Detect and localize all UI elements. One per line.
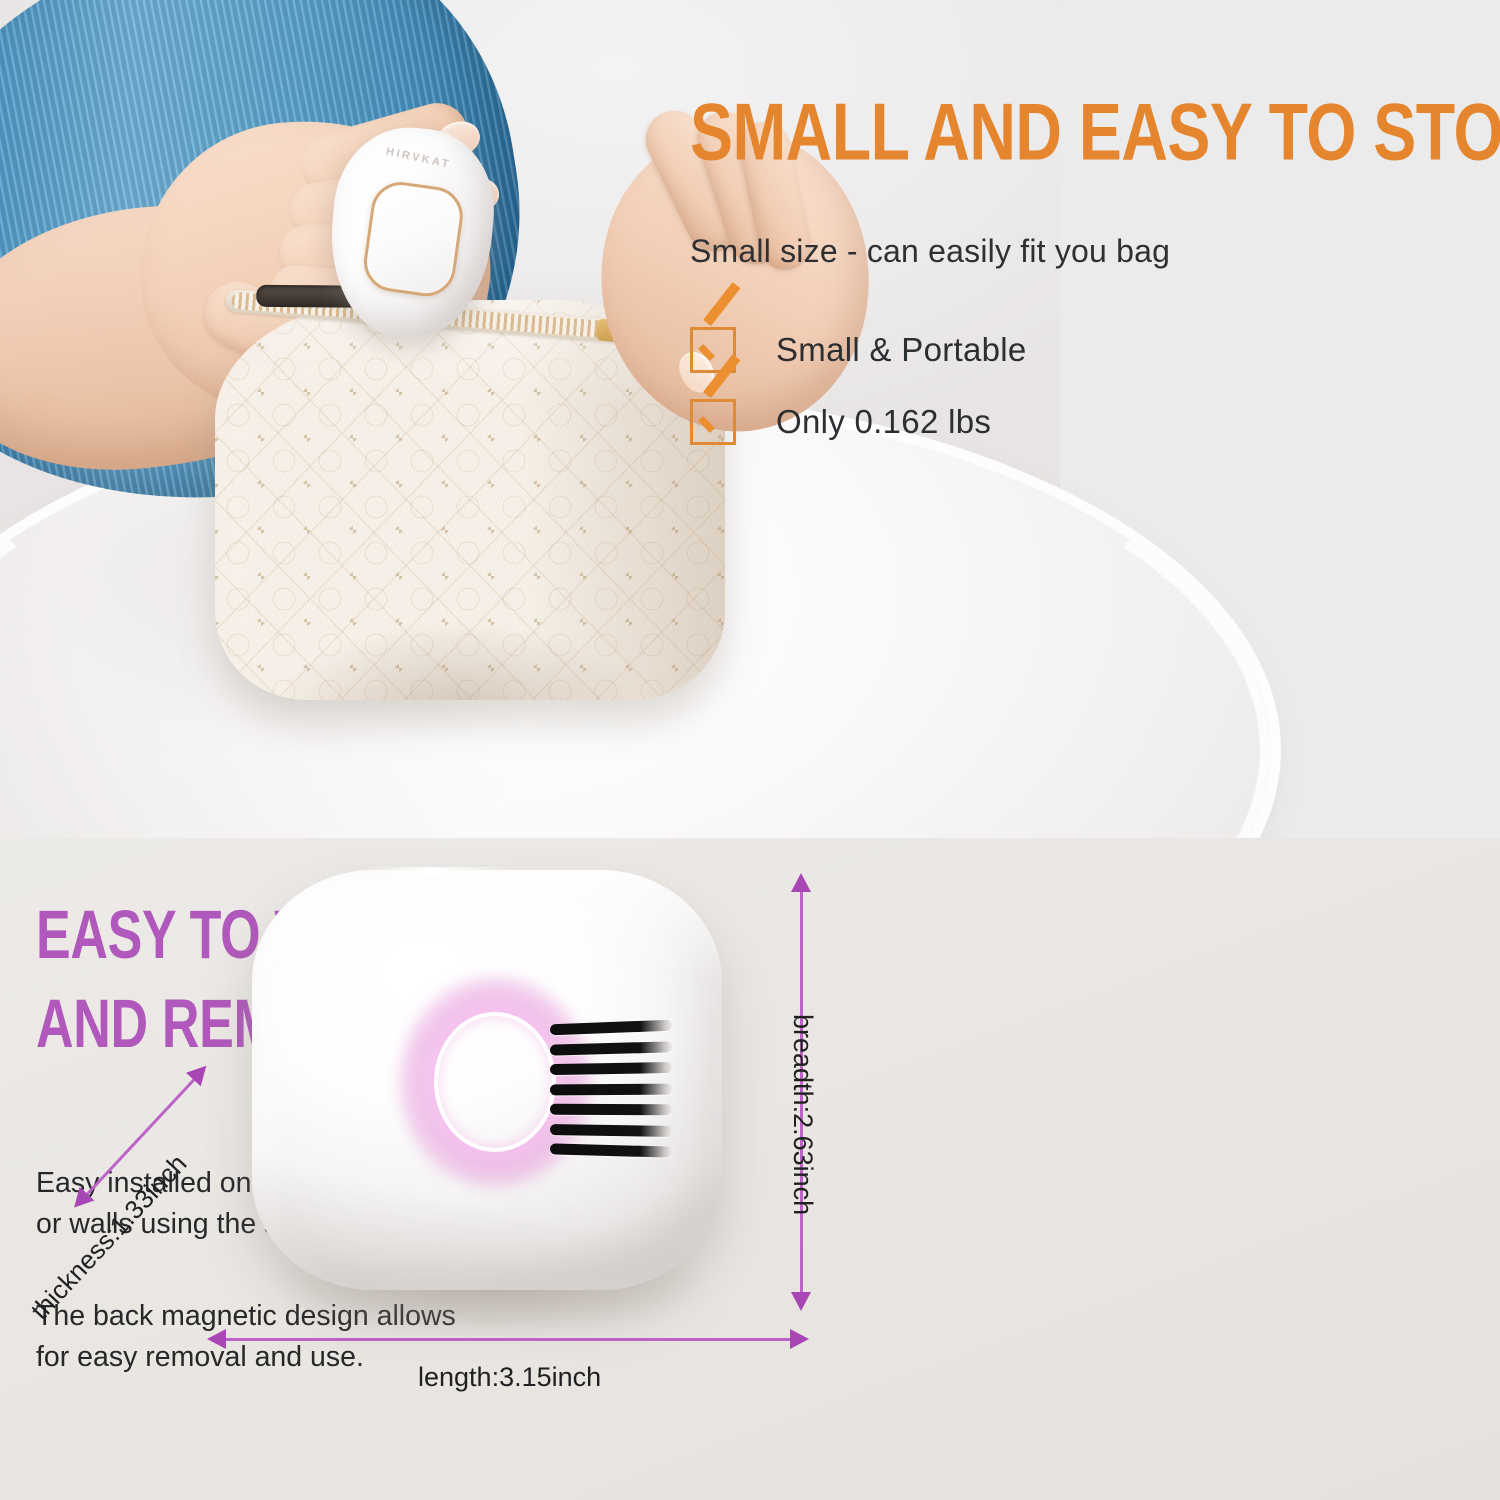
length-dimension-label: length:3.15inch <box>418 1362 601 1393</box>
easy-to-wall-mount-section: EASY TO WALL MOUNT AND REMOVE Easy insta… <box>0 838 1500 1500</box>
checkbox-checked-icon <box>690 399 736 445</box>
vent-slot <box>550 1083 672 1095</box>
list-item: Only 0.162 lbs <box>690 386 1480 458</box>
list-item: Small & Portable <box>690 314 1480 386</box>
checklist-label: Only 0.162 lbs <box>776 403 991 441</box>
vent-slot <box>550 1104 672 1116</box>
small-and-easy-to-store-section: HIRVKAT SMALL AND EASY TO STORE Small si… <box>0 0 1500 838</box>
top-headline: SMALL AND EASY TO STORE <box>690 92 1500 174</box>
vent-slot <box>550 1124 672 1137</box>
indicator-light-ring <box>434 1012 556 1152</box>
vent-slot <box>550 1041 672 1055</box>
vent-slot <box>550 1143 672 1157</box>
feature-checklist: Small & Portable Only 0.162 lbs <box>690 314 1480 458</box>
vent-slot <box>550 1062 672 1075</box>
air-vent-grille <box>550 1022 678 1158</box>
top-subtitle: Small size - can easily fit you bag <box>690 233 1480 270</box>
vent-slot <box>550 1020 672 1036</box>
length-dimension-arrow <box>224 1338 792 1341</box>
breadth-dimension-label: breadth:2.63inch <box>787 1014 818 1215</box>
ring-outline <box>434 1012 556 1152</box>
product-top-edge-highlight <box>364 867 514 877</box>
device-power-button <box>360 178 466 300</box>
product-device <box>252 870 722 1310</box>
checklist-label: Small & Portable <box>776 331 1027 369</box>
top-text-block: SMALL AND EASY TO STORE Small size - can… <box>690 92 1480 458</box>
device-brand-logo: HIRVKAT <box>357 140 481 178</box>
